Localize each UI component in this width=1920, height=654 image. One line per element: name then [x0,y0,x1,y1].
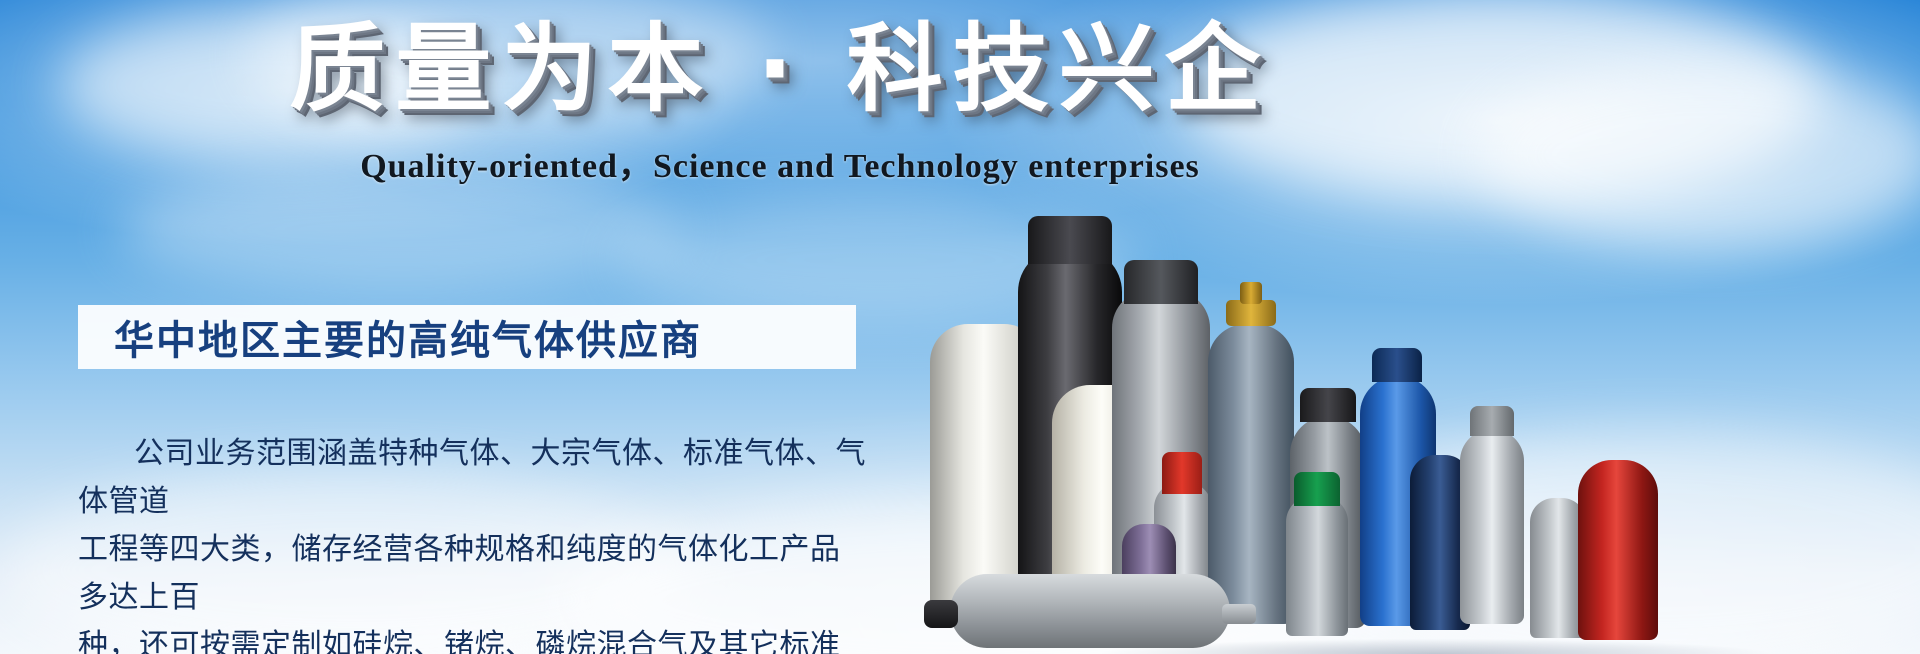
steel-blue-cylinder [1208,324,1294,624]
black-cylinder-cap [1028,216,1112,264]
headline-container: 质量为本 · 科技兴企 [0,14,1560,124]
horizontal-tank-neck [1222,604,1256,624]
green-cylinder-cap [1294,472,1340,506]
page-title: 质量为本 · 科技兴企 [289,14,1270,124]
horizontal-tank [950,574,1230,648]
promotional-banner: 质量为本 · 科技兴企 Quality-oriented，Science and… [0,0,1920,654]
aluminium-cylinder-cap [1470,406,1514,436]
body-line-1: 公司业务范围涵盖特种气体、大宗气体、标准气体、气体管道 [78,430,868,526]
horizontal-tank-valve [924,600,958,628]
red-cylinder-cap [1162,452,1202,494]
aluminium-cylinder [1460,429,1524,624]
highlight-box-label: 华中地区主要的高纯气体供应商 [78,308,702,366]
blue-cylinder-cap [1372,348,1422,382]
red-large-cylinder [1578,460,1658,640]
dark-grey-cylinder-cap [1300,388,1356,422]
gas-cylinder-photo [940,134,1920,654]
green-cap-cylinder [1286,496,1348,636]
grey-cylinder-cap [1124,260,1198,304]
brass-valve-stem [1240,282,1262,304]
highlight-box: 华中地区主要的高纯气体供应商 [78,305,856,369]
body-line-3: 种，还可按需定制如硅烷、锗烷、磷烷混合气及其它标准气体。 [78,622,868,654]
body-copy: 公司业务范围涵盖特种气体、大宗气体、标准气体、气体管道 工程等四大类，储存经营各… [78,430,868,654]
body-line-2: 工程等四大类，储存经营各种规格和纯度的气体化工产品多达上百 [78,526,868,622]
